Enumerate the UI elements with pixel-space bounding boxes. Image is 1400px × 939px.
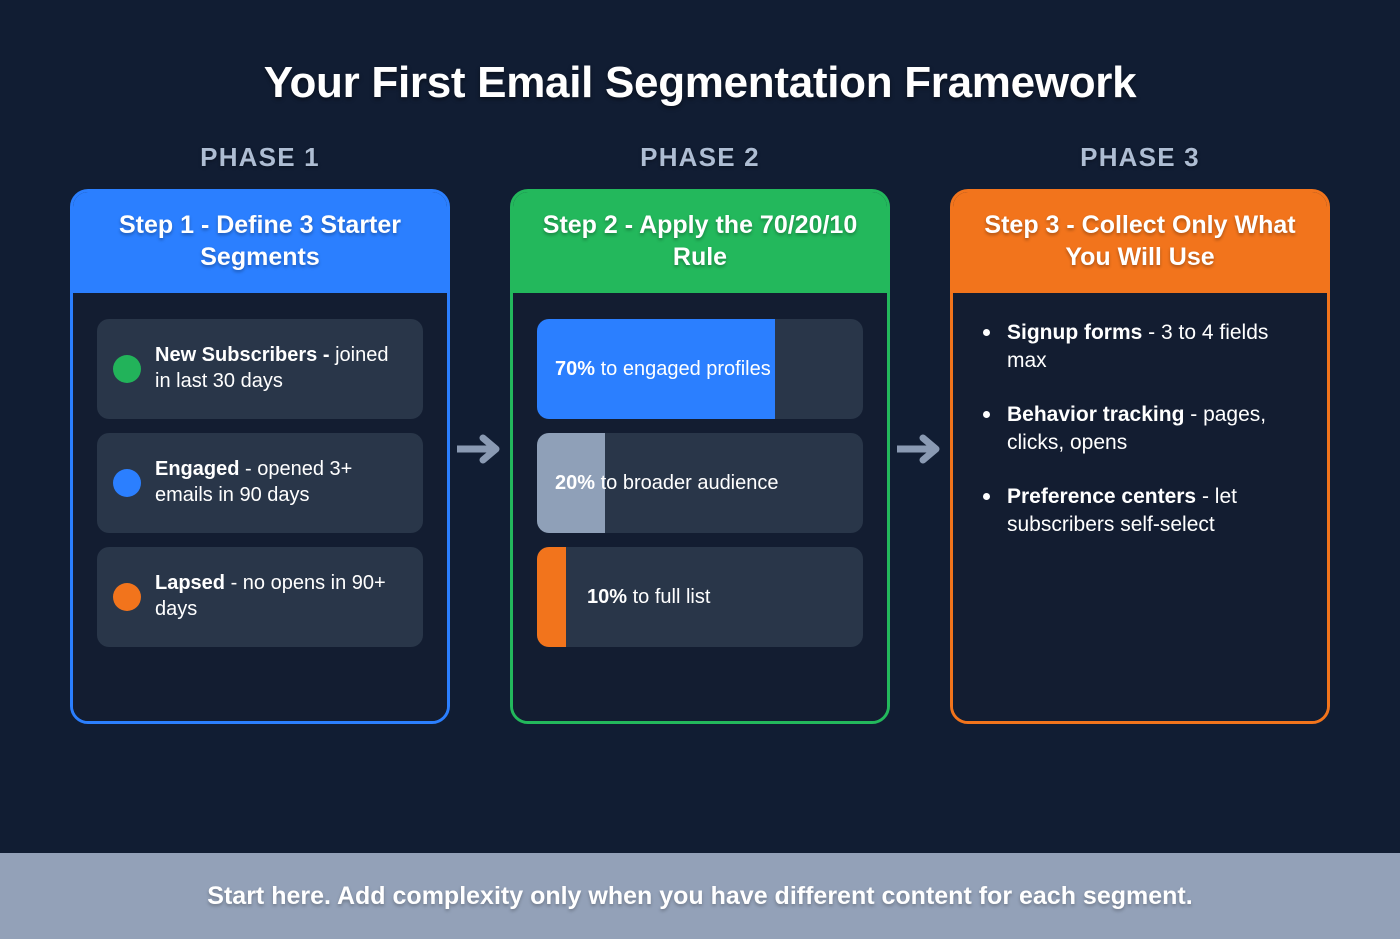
card-step-3: Step 3 - Collect Only What You Will Use … — [950, 189, 1330, 724]
footer-banner: Start here. Add complexity only when you… — [0, 853, 1400, 939]
arrow-phase2-to-phase3 — [890, 142, 950, 466]
segment-item-engaged[interactable]: Engaged - opened 3+ emails in 90 days — [97, 433, 423, 533]
bar-percent: 70% — [555, 358, 595, 380]
segment-text: Engaged - opened 3+ emails in 90 days — [155, 457, 407, 508]
collect-bullet-list: Signup forms - 3 to 4 fields max Behavio… — [977, 319, 1303, 539]
phase-column-3: PHASE 3 Step 3 - Collect Only What You W… — [950, 142, 1330, 724]
bar-label: 70% to engaged profiles — [537, 358, 771, 381]
bullet-item-behavior-tracking: Behavior tracking - pages, clicks, opens — [981, 401, 1303, 457]
bar-label: 20% to broader audience — [537, 472, 779, 495]
segment-title: Engaged — [155, 458, 239, 480]
card-body-step-2: 70% to engaged profiles 20% to broader a… — [513, 293, 887, 721]
bullet-dot-icon — [983, 411, 990, 418]
card-step-2: Step 2 - Apply the 70/20/10 Rule 70% to … — [510, 189, 890, 724]
segment-list: New Subscribers - joined in last 30 days… — [97, 319, 423, 647]
allocation-bar-10[interactable]: 10% to full list — [537, 547, 863, 647]
card-body-step-1: New Subscribers - joined in last 30 days… — [73, 293, 447, 721]
footer-text: Start here. Add complexity only when you… — [207, 882, 1192, 911]
bullet-dot-icon — [983, 493, 990, 500]
card-header-step-3: Step 3 - Collect Only What You Will Use — [953, 192, 1327, 293]
segment-text: New Subscribers - joined in last 30 days — [155, 343, 407, 394]
bullet-item-preference-centers: Preference centers - let subscribers sel… — [981, 483, 1303, 539]
infographic-root: Your First Email Segmentation Framework … — [0, 0, 1400, 724]
phases-board: PHASE 1 Step 1 - Define 3 Starter Segmen… — [0, 142, 1400, 724]
allocation-bar-70[interactable]: 70% to engaged profiles — [537, 319, 863, 419]
segment-text: Lapsed - no opens in 90+ days — [155, 571, 407, 622]
arrow-right-icon — [457, 432, 503, 466]
bar-percent: 10% — [587, 586, 627, 608]
phase-label-3: PHASE 3 — [950, 142, 1330, 173]
bar-label: 10% to full list — [537, 586, 710, 609]
bar-description: to broader audience — [595, 472, 778, 494]
phase-label-1: PHASE 1 — [70, 142, 450, 173]
segment-item-new-subscribers[interactable]: New Subscribers - joined in last 30 days — [97, 319, 423, 419]
card-step-1: Step 1 - Define 3 Starter Segments New S… — [70, 189, 450, 724]
arrow-phase1-to-phase2 — [450, 142, 510, 466]
status-dot-green-icon — [113, 355, 141, 383]
phase-label-2: PHASE 2 — [510, 142, 890, 173]
phase-column-1: PHASE 1 Step 1 - Define 3 Starter Segmen… — [70, 142, 450, 724]
status-dot-blue-icon — [113, 469, 141, 497]
card-header-step-1: Step 1 - Define 3 Starter Segments — [73, 192, 447, 293]
bar-description: to full list — [627, 586, 710, 608]
arrow-right-icon — [897, 432, 943, 466]
segment-title: Lapsed — [155, 572, 225, 594]
segment-item-lapsed[interactable]: Lapsed - no opens in 90+ days — [97, 547, 423, 647]
bullet-title: Preference centers — [1007, 485, 1196, 508]
bar-description: to engaged profiles — [595, 358, 771, 380]
phase-column-2: PHASE 2 Step 2 - Apply the 70/20/10 Rule… — [510, 142, 890, 724]
segment-title: New Subscribers - — [155, 344, 330, 366]
page-title: Your First Email Segmentation Framework — [0, 0, 1400, 108]
allocation-bar-20[interactable]: 20% to broader audience — [537, 433, 863, 533]
card-header-step-2: Step 2 - Apply the 70/20/10 Rule — [513, 192, 887, 293]
status-dot-orange-icon — [113, 583, 141, 611]
bar-percent: 20% — [555, 472, 595, 494]
bullet-title: Signup forms — [1007, 321, 1142, 344]
card-body-step-3: Signup forms - 3 to 4 fields max Behavio… — [953, 293, 1327, 721]
bullet-title: Behavior tracking — [1007, 403, 1184, 426]
bullet-dot-icon — [983, 329, 990, 336]
allocation-bar-list: 70% to engaged profiles 20% to broader a… — [537, 319, 863, 647]
bullet-item-signup-forms: Signup forms - 3 to 4 fields max — [981, 319, 1303, 375]
